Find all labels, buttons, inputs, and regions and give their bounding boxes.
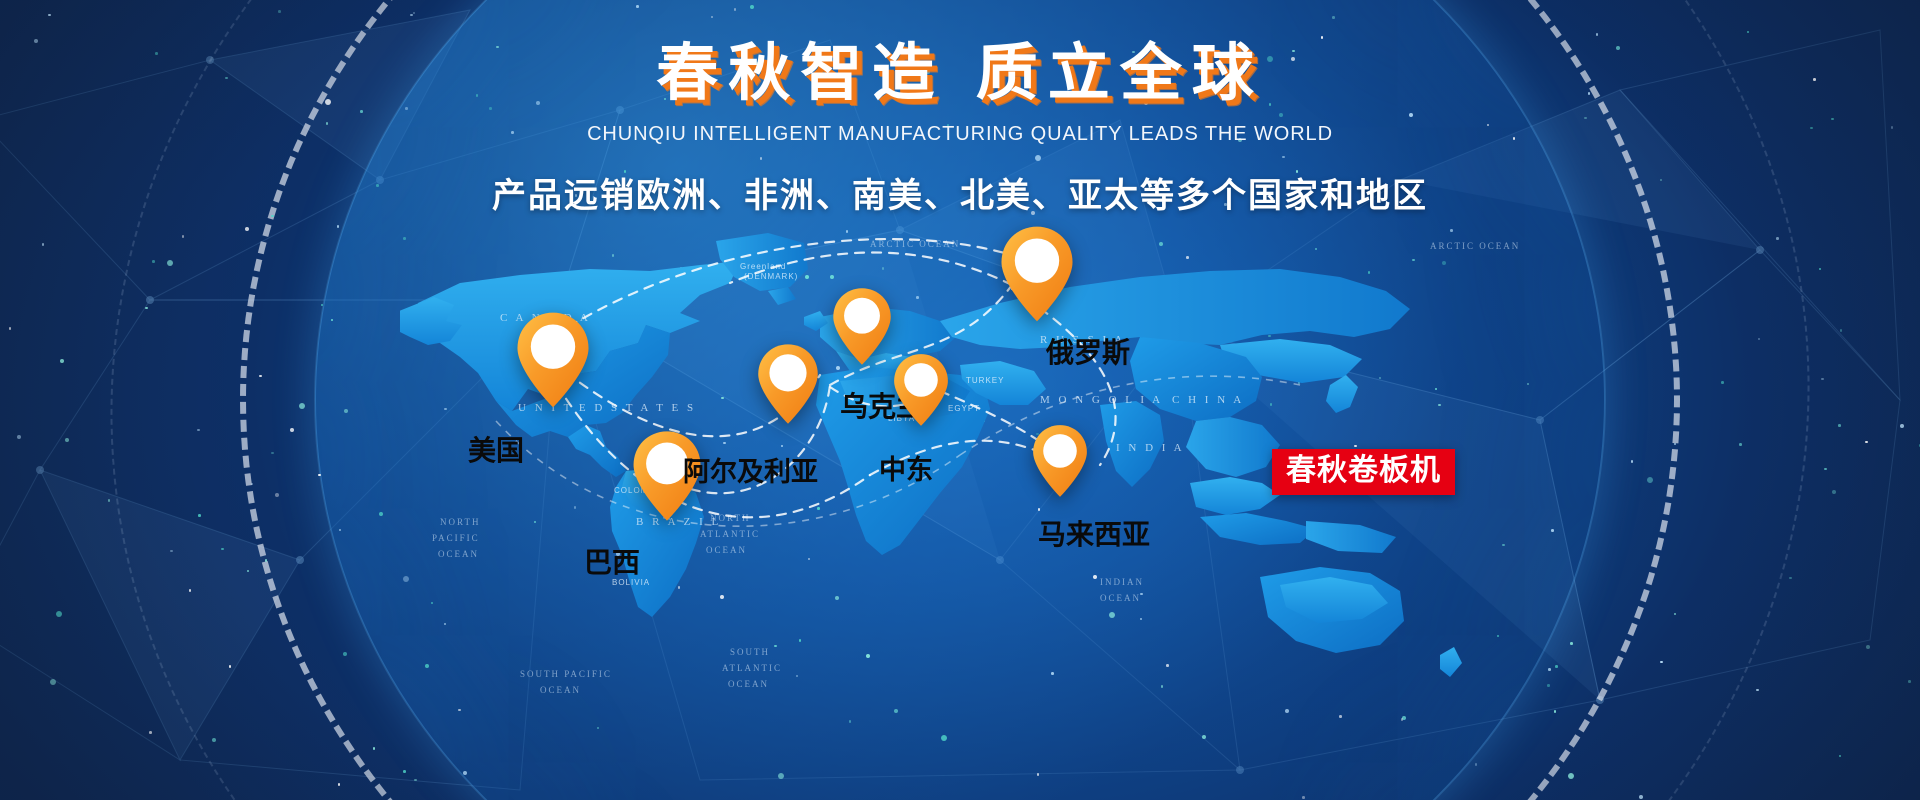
headings-block: 春秋智造 质立全球 CHUNQIU INTELLIGENT MANUFACTUR… (0, 40, 1920, 217)
star-dot (1908, 680, 1911, 683)
svg-text:Greenland: Greenland (740, 262, 786, 271)
page-tagline: 产品远销欧洲、非洲、南美、北美、亚太等多个国家和地区 (0, 168, 1920, 217)
star-dot (1037, 773, 1040, 776)
star-dot (198, 514, 201, 517)
star-dot (197, 429, 200, 432)
map-marker-label: 中东 (879, 448, 933, 487)
svg-text:OCEAN: OCEAN (540, 685, 581, 695)
map-marker-label: 俄罗斯 (1046, 331, 1130, 371)
svg-text:C H I N A: C H I N A (1172, 394, 1244, 406)
svg-text:SOUTH PACIFIC: SOUTH PACIFIC (520, 669, 612, 679)
location-pin-icon (1000, 225, 1074, 323)
world-map-icon: ARCTIC OCEAN ARCTIC OCEAN NORTH PACIFIC … (400, 225, 1580, 765)
map-marker-mideast[interactable]: 中东 (893, 353, 949, 427)
svg-text:ATLANTIC: ATLANTIC (700, 529, 760, 539)
star-dot (1838, 424, 1841, 427)
svg-text:TURKEY: TURKEY (966, 376, 1004, 385)
star-dot (182, 235, 185, 238)
star-dot (1674, 613, 1677, 616)
map-marker-label: 美国 (468, 429, 524, 469)
world-map: ARCTIC OCEAN ARCTIC OCEAN NORTH PACIFIC … (400, 225, 1580, 765)
star-dot (1819, 268, 1822, 271)
svg-text:NORTH: NORTH (440, 517, 480, 527)
star-dot (318, 474, 321, 477)
map-marker-malaysia[interactable]: 马来西亚 (1032, 424, 1088, 498)
star-dot (221, 548, 224, 551)
star-dot (1332, 16, 1335, 19)
star-dot (1839, 755, 1842, 758)
location-pin-icon (893, 353, 949, 427)
svg-text:OCEAN: OCEAN (1100, 593, 1141, 603)
star-dot (750, 5, 754, 9)
svg-text:ARCTIC OCEAN: ARCTIC OCEAN (870, 239, 960, 249)
page-title: 春秋智造 质立全球 (0, 40, 1920, 107)
star-dot (1747, 31, 1750, 34)
star-dot (1631, 460, 1634, 463)
star-dot (1721, 381, 1724, 384)
location-pin-icon (832, 287, 892, 366)
star-dot (1302, 796, 1305, 799)
star-dot (339, 529, 342, 532)
star-dot (245, 227, 249, 231)
status-badge[interactable]: 春秋卷板机 (1272, 449, 1455, 495)
star-dot (1756, 689, 1759, 692)
star-dot (60, 359, 64, 363)
star-dot (1832, 490, 1836, 494)
star-dot (229, 665, 232, 668)
svg-text:EGYPT: EGYPT (948, 404, 980, 413)
star-dot (50, 679, 56, 685)
map-marker-algeria[interactable]: 阿尔及利亚 (757, 343, 819, 425)
star-dot (9, 327, 12, 330)
svg-text:OCEAN: OCEAN (728, 679, 769, 689)
star-dot (251, 483, 254, 486)
star-dot (1568, 773, 1574, 779)
star-dot (278, 10, 281, 13)
map-marker-ukraine[interactable]: 乌克兰 (832, 287, 892, 366)
star-dot (108, 499, 111, 502)
star-dot (65, 438, 69, 442)
star-dot (1900, 424, 1904, 428)
location-pin-icon (1032, 424, 1088, 498)
star-dot (290, 428, 294, 432)
star-dot (337, 225, 340, 228)
map-marker-label: 巴西 (584, 541, 640, 581)
svg-text:M O N G O L I A: M O N G O L I A (1040, 394, 1163, 406)
star-dot (379, 512, 383, 516)
star-dot (636, 5, 639, 8)
star-dot (1824, 468, 1827, 471)
star-dot (17, 435, 21, 439)
star-dot (48, 14, 51, 17)
star-dot (145, 307, 148, 310)
star-dot (212, 738, 216, 742)
map-marker-russia[interactable]: 俄罗斯 (1000, 225, 1074, 323)
star-dot (152, 260, 155, 263)
star-dot (1789, 577, 1792, 580)
star-dot (778, 773, 784, 779)
star-dot (1840, 329, 1843, 332)
star-dot (56, 611, 62, 617)
star-dot (275, 493, 279, 497)
map-marker-label: 阿尔及利亚 (683, 450, 818, 489)
svg-text:SOUTH: SOUTH (730, 647, 770, 657)
star-dot (463, 771, 467, 775)
star-dot (1739, 443, 1742, 446)
svg-text:(DENMARK): (DENMARK) (744, 272, 798, 281)
star-dot (167, 260, 173, 266)
star-dot (343, 652, 347, 656)
star-dot (1647, 477, 1653, 483)
svg-text:OCEAN: OCEAN (706, 545, 747, 555)
svg-text:PACIFIC: PACIFIC (432, 533, 480, 543)
location-pin-icon (516, 311, 590, 409)
star-dot (1758, 338, 1761, 341)
star-dot (1866, 645, 1870, 649)
banner-root: ARCTIC OCEAN ARCTIC OCEAN NORTH PACIFIC … (0, 0, 1920, 800)
star-dot (734, 8, 737, 11)
location-pin-icon (757, 343, 819, 425)
star-dot (149, 731, 152, 734)
star-dot (1321, 36, 1324, 39)
star-dot (413, 12, 416, 15)
star-dot (344, 409, 348, 413)
star-dot (189, 589, 192, 592)
svg-text:INDIAN: INDIAN (1100, 577, 1144, 587)
star-dot (321, 304, 324, 307)
star-dot (1776, 237, 1779, 240)
star-dot (373, 747, 376, 750)
star-dot (410, 14, 413, 17)
star-dot (247, 570, 250, 573)
star-dot (1821, 378, 1824, 381)
star-dot (170, 550, 173, 553)
svg-text:I N D I A: I N D I A (1116, 442, 1185, 454)
svg-text:OCEAN: OCEAN (438, 549, 479, 559)
star-dot (1596, 33, 1599, 36)
map-marker-label: 马来西亚 (1038, 513, 1150, 553)
star-dot (271, 452, 274, 455)
star-dot (1639, 795, 1643, 799)
star-dot (338, 783, 341, 786)
star-dot (1865, 441, 1868, 444)
map-marker-usa[interactable]: 美国 (516, 311, 590, 409)
svg-text:ATLANTIC: ATLANTIC (722, 663, 782, 673)
star-dot (259, 375, 262, 378)
star-dot (265, 559, 268, 562)
page-subtitle-en: CHUNQIU INTELLIGENT MANUFACTURING QUALIT… (0, 123, 1920, 146)
star-dot (331, 319, 334, 322)
star-dot (299, 403, 305, 409)
star-dot (1674, 443, 1677, 446)
star-dot (42, 243, 45, 246)
star-dot (414, 779, 417, 782)
svg-text:ARCTIC OCEAN: ARCTIC OCEAN (1430, 241, 1520, 251)
star-dot (403, 770, 406, 773)
star-dot (711, 16, 714, 19)
star-dot (1660, 661, 1663, 664)
